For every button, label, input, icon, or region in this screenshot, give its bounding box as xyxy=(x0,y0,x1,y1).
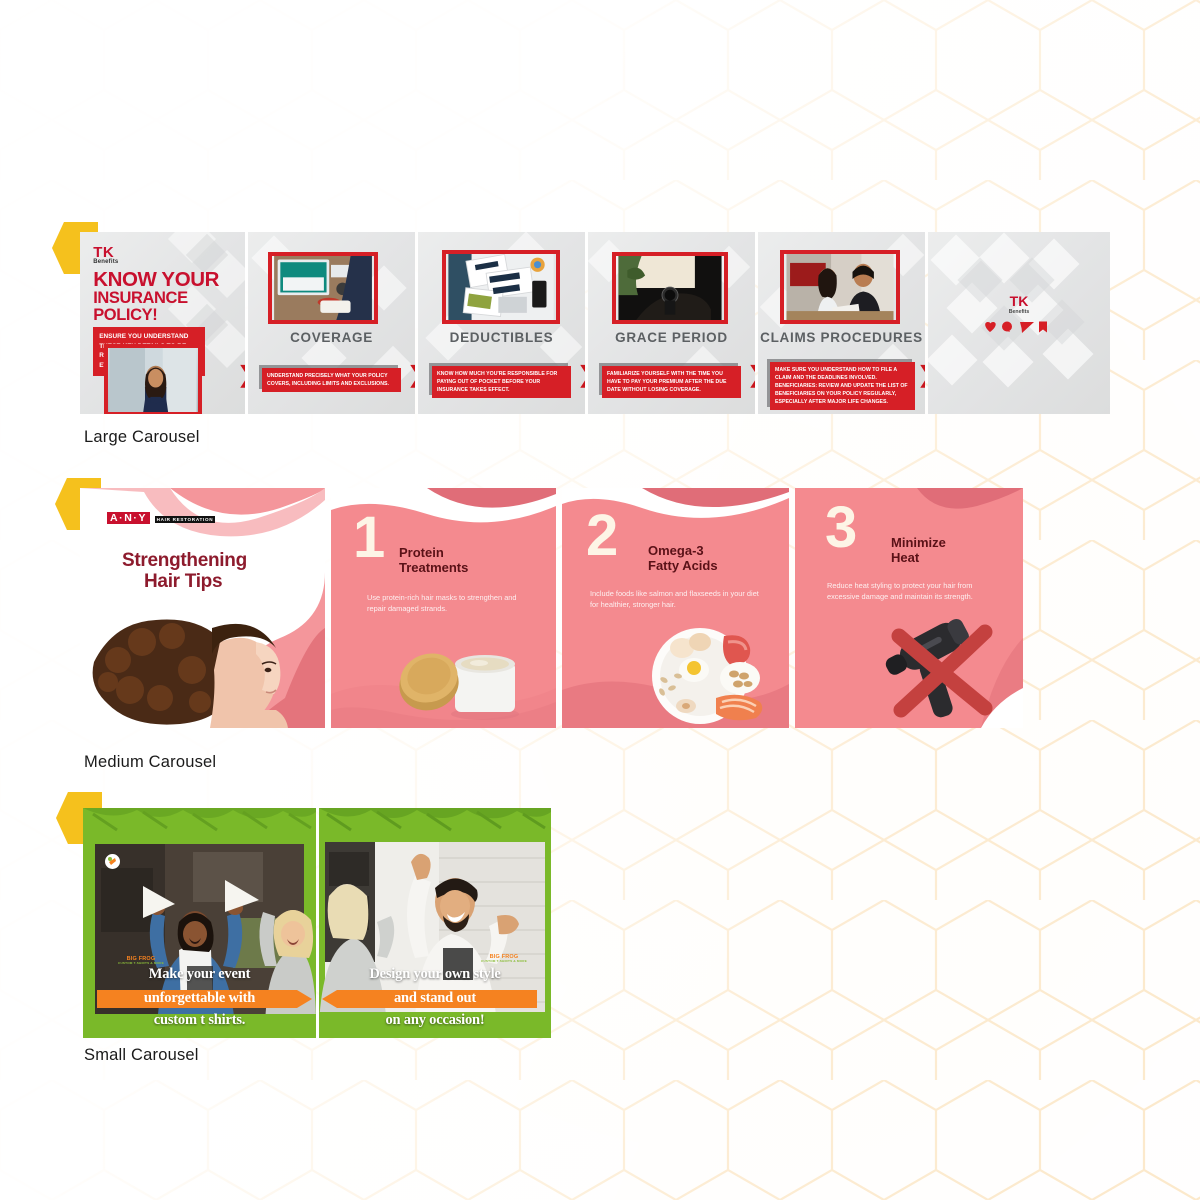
frog-logo-icon xyxy=(107,856,118,867)
sections.1.slides.3[interactable]: 3 Minimize Heat Reduce heat styling to p… xyxy=(795,488,1023,728)
tip-title-line-2: Heat xyxy=(891,551,946,566)
send-icon xyxy=(1020,322,1034,333)
tip-title-line-1: Protein xyxy=(399,546,468,561)
deductibles-photo xyxy=(442,250,560,324)
contract-documents-photo-illustration xyxy=(446,254,556,320)
next-arrow-icon[interactable]: ❯ xyxy=(408,364,415,386)
next-arrow-icon[interactable]: ❯ xyxy=(238,364,245,386)
agent-client-photo-illustration xyxy=(784,254,896,320)
poster-canvas: TK Benefits KNOW YOUR INSURANCE POLICY! … xyxy=(0,0,1200,1200)
cover-headline: KNOW YOUR INSURANCE POLICY! xyxy=(93,270,245,324)
next-arrow-icon[interactable]: ❯ xyxy=(748,364,755,386)
tee-headline-line-3: custom t shirts. xyxy=(83,1012,316,1029)
any-logo-sub: HAIR RESTORATION xyxy=(155,516,216,523)
tip-title: Minimize Heat xyxy=(891,536,946,566)
cover-photo xyxy=(104,344,202,414)
big-frog-logo: BIG FROG CUSTOM T-SHIRTS & MORE xyxy=(475,954,533,963)
medium-carousel-label: Medium Carousel xyxy=(84,753,216,772)
tip-number: 1 xyxy=(353,514,385,562)
sections.0.slides.5[interactable]: TK Benefits xyxy=(928,232,1110,414)
big-frog-logo-sub: CUSTOM T-SHIRTS & MORE xyxy=(475,960,533,963)
wristwatch-photo-illustration xyxy=(616,256,724,320)
tee-headline-line-2: unforgettable with xyxy=(83,990,316,1007)
tip-title-line-1: Omega-3 xyxy=(648,544,718,559)
sections.2.slides.1[interactable]: BIG FROG CUSTOM T-SHIRTS & MORE Design y… xyxy=(319,808,551,1038)
step-title: COVERAGE xyxy=(248,330,415,345)
tee-headline-line-1: Make your event xyxy=(83,966,316,983)
headline-line-2: INSURANCE POLICY! xyxy=(93,290,245,323)
tee-headline-line-2: and stand out xyxy=(319,990,551,1007)
sections.1.slides.0[interactable]: A·N·Y HAIR RESTORATION Strengthening Hai… xyxy=(80,488,325,728)
large-carousel-label: Large Carousel xyxy=(84,428,200,447)
frog-badge-icon xyxy=(105,854,120,869)
tee-headline-line-1: Design your own style xyxy=(319,966,551,983)
grace-period-photo xyxy=(612,252,728,324)
tip-number: 3 xyxy=(825,504,857,552)
step-caption: MAKE SURE YOU UNDERSTAND HOW TO FILE A C… xyxy=(770,362,915,410)
tk-logo-mark: TK xyxy=(928,294,1110,308)
step-caption: FAMILIARIZE YOURSELF WITH THE TIME YOU H… xyxy=(602,366,741,398)
sections.1.slides.1[interactable]: 1 Protein Treatments Use protein-rich ha… xyxy=(331,488,556,728)
next-arrow-icon[interactable]: ❯ xyxy=(918,364,925,386)
step-caption: UNDERSTAND PRECISELY WHAT YOUR POLICY CO… xyxy=(262,368,401,392)
coverage-photo xyxy=(268,252,378,324)
small-carousel-strip[interactable]: BIG FROG CUSTOM T-SHIRTS & MORE Make you… xyxy=(83,808,551,1038)
tip-title-line-1: Minimize xyxy=(891,536,946,551)
heart-icon xyxy=(985,322,995,332)
headline-line-1: Strengthening xyxy=(122,550,247,571)
any-hair-restoration-logo: A·N·Y HAIR RESTORATION xyxy=(107,508,215,526)
hairdryer-crossed-illustration xyxy=(865,596,1015,726)
medium-carousel-strip[interactable]: A·N·Y HAIR RESTORATION Strengthening Hai… xyxy=(80,488,1023,728)
claims-photo xyxy=(780,250,900,324)
tk-logo-sub: Benefits xyxy=(928,309,1110,315)
tip-number: 2 xyxy=(586,512,618,560)
sections.0.slides.0[interactable]: TK Benefits KNOW YOUR INSURANCE POLICY! … xyxy=(80,232,245,414)
tk-logo-sub: Benefits xyxy=(93,260,245,266)
end-slide-brand-block: TK Benefits xyxy=(928,294,1110,339)
bookmark-icon xyxy=(1039,322,1047,333)
hair-mask-jar-illustration xyxy=(393,622,533,722)
tee-headline-line-3: on any occasion! xyxy=(319,1012,551,1029)
any-logo-mark: A·N·Y xyxy=(107,512,150,524)
headline-line-1: KNOW YOUR xyxy=(93,270,245,291)
tip-body: Include foods like salmon and flaxseeds … xyxy=(590,588,761,611)
sections.0.slides.4[interactable]: CLAIMS PROCEDURES MAKE SURE YOU UNDERSTA… xyxy=(758,232,925,414)
omega3-food-plate-illustration xyxy=(628,614,778,724)
sections.0.slides.3[interactable]: GRACE PERIOD FAMILIARIZE YOURSELF WITH T… xyxy=(588,232,755,414)
tip-title-line-2: Fatty Acids xyxy=(648,559,718,574)
sections.2.slides.0[interactable]: BIG FROG CUSTOM T-SHIRTS & MORE Make you… xyxy=(83,808,316,1038)
big-frog-logo: BIG FROG CUSTOM T-SHIRTS & MORE xyxy=(113,956,169,965)
headline-line-2: Hair Tips xyxy=(122,571,247,592)
big-frog-logo-sub: CUSTOM T-SHIRTS & MORE xyxy=(113,962,169,965)
tip-title: Omega-3 Fatty Acids xyxy=(648,544,718,574)
small-carousel-label: Small Carousel xyxy=(84,1046,199,1065)
step-title: DEDUCTIBLES xyxy=(418,330,585,345)
sections.0.slides.2[interactable]: DEDUCTIBLES KNOW HOW MUCH YOU'RE RESPONS… xyxy=(418,232,585,414)
tk-benefits-logo: TK Benefits xyxy=(93,245,245,266)
desk-monitor-photo-illustration xyxy=(272,256,374,320)
hair-headline: Strengthening Hair Tips xyxy=(122,550,247,593)
woman-hair-illustration xyxy=(80,598,325,728)
sections.0.slides.1[interactable]: COVERAGE UNDERSTAND PRECISELY WHAT YOUR … xyxy=(248,232,415,414)
tip-title-line-2: Treatments xyxy=(399,561,468,576)
step-title: CLAIMS PROCEDURES xyxy=(758,330,925,345)
large-carousel-strip[interactable]: TK Benefits KNOW YOUR INSURANCE POLICY! … xyxy=(80,232,1110,414)
social-icons-row[interactable] xyxy=(984,320,1054,334)
woman-photo-illustration xyxy=(108,348,198,412)
step-title: GRACE PERIOD xyxy=(588,330,755,345)
next-arrow-icon[interactable]: ❯ xyxy=(578,364,585,386)
tip-body: Use protein-rich hair masks to strengthe… xyxy=(367,592,520,615)
sections.1.slides.2[interactable]: 2 Omega-3 Fatty Acids Include foods like… xyxy=(562,488,789,728)
step-caption: KNOW HOW MUCH YOU'RE RESPONSIBLE FOR PAY… xyxy=(432,366,571,398)
tip-title: Protein Treatments xyxy=(399,546,468,576)
